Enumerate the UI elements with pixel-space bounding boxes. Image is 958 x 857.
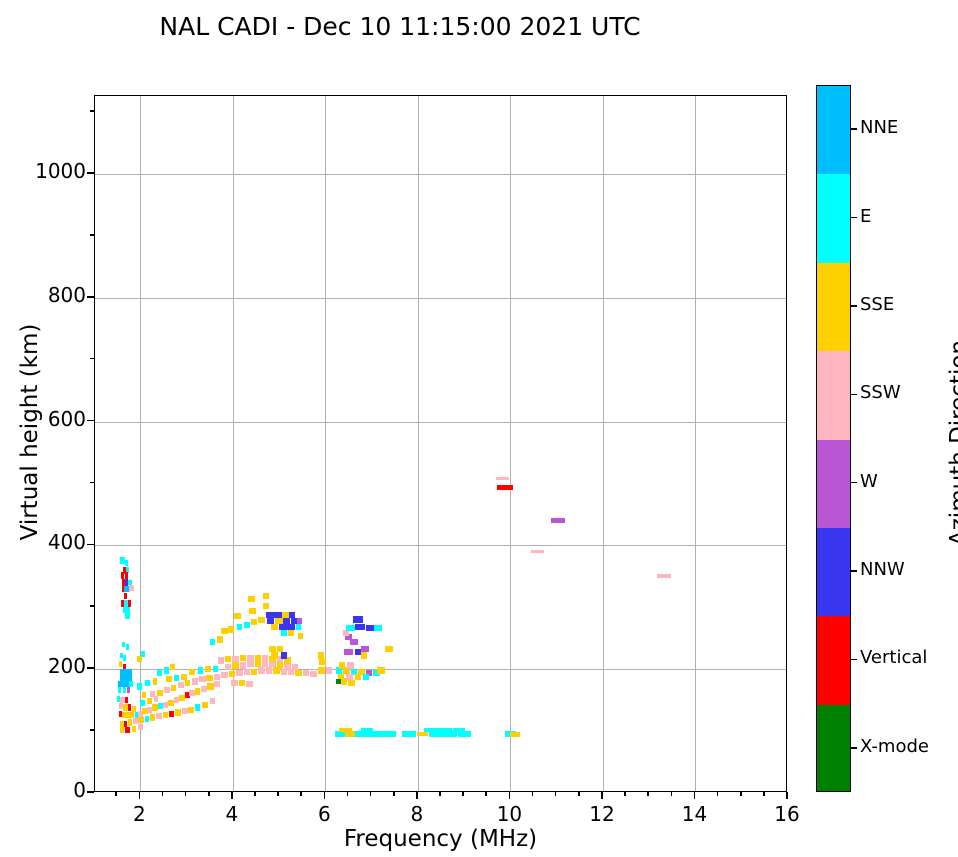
- data-point: [156, 713, 162, 719]
- data-point: [255, 661, 261, 667]
- data-point: [341, 678, 347, 684]
- x-tick-minor: [347, 792, 349, 796]
- data-point: [236, 670, 242, 676]
- y-tick-minor: [90, 729, 94, 731]
- colorbar-segment-nnw: [817, 528, 850, 616]
- colorbar-segment-w: [817, 440, 850, 528]
- data-point: [348, 680, 354, 686]
- colorbar-label-sse: SSE: [860, 294, 894, 315]
- data-point: [266, 667, 272, 673]
- data-point: [225, 664, 231, 670]
- data-point: [122, 642, 125, 648]
- data-point: [347, 662, 353, 668]
- colorbar-segment-vertical: [817, 616, 850, 704]
- data-point: [361, 728, 373, 732]
- data-point: [121, 572, 124, 579]
- y-tick-mark: [87, 791, 94, 793]
- data-point: [228, 626, 234, 632]
- data-point: [205, 666, 211, 672]
- data-point: [199, 676, 205, 682]
- x-tick-minor: [462, 792, 464, 796]
- data-point: [206, 675, 212, 681]
- data-point: [385, 646, 393, 652]
- colorbar-label-w: W: [860, 471, 878, 492]
- x-tick-label: 14: [664, 802, 724, 826]
- y-tick-minor: [90, 110, 94, 112]
- data-point: [361, 652, 367, 658]
- data-point: [124, 593, 127, 599]
- data-point: [181, 674, 187, 680]
- data-point: [310, 671, 316, 677]
- data-point: [153, 678, 158, 684]
- x-tick-mark: [786, 792, 788, 799]
- data-point: [123, 704, 128, 710]
- data-point: [258, 617, 264, 623]
- data-point: [125, 727, 130, 733]
- y-tick-label: 0: [73, 778, 86, 802]
- y-tick-mark: [87, 544, 94, 546]
- data-point: [178, 682, 184, 688]
- data-point: [129, 585, 134, 591]
- data-point: [125, 560, 128, 566]
- data-point: [141, 651, 146, 657]
- x-tick-minor: [624, 792, 626, 796]
- colorbar-label-nnw: NNW: [860, 559, 905, 580]
- gridline-vertical: [603, 96, 604, 791]
- data-point: [292, 664, 298, 670]
- x-tick-label: 16: [757, 802, 817, 826]
- data-point: [123, 655, 126, 661]
- data-point: [438, 728, 452, 732]
- data-point: [239, 680, 245, 686]
- data-point: [248, 596, 254, 602]
- x-tick-minor: [277, 792, 279, 796]
- y-axis-label: Virtual height (km): [17, 267, 43, 597]
- data-point: [163, 712, 169, 718]
- x-tick-minor: [485, 792, 487, 796]
- data-point: [295, 670, 301, 676]
- x-axis-label: Frequency (MHz): [94, 826, 787, 852]
- y-tick-mark: [87, 667, 94, 669]
- colorbar-segment-ssw: [817, 351, 850, 439]
- y-tick-label: 400: [48, 530, 86, 554]
- data-point: [353, 616, 363, 623]
- data-point: [363, 674, 369, 680]
- data-point: [263, 593, 269, 599]
- data-point: [232, 662, 238, 668]
- data-point: [221, 672, 227, 678]
- data-point: [263, 603, 269, 609]
- data-point: [344, 649, 352, 655]
- data-point: [218, 657, 224, 663]
- colorbar-label-e: E: [860, 206, 871, 227]
- data-point: [303, 670, 309, 676]
- data-point: [531, 550, 544, 554]
- x-tick-minor: [717, 792, 719, 796]
- data-point: [137, 683, 142, 689]
- y-tick-label: 200: [48, 654, 86, 678]
- gridline-horizontal: [95, 174, 786, 175]
- data-point: [255, 655, 261, 661]
- data-point: [458, 731, 471, 737]
- data-point: [145, 716, 150, 722]
- data-point: [145, 680, 150, 686]
- y-tick-mark: [87, 296, 94, 298]
- x-tick-minor: [740, 792, 742, 796]
- data-point: [195, 688, 201, 694]
- gridline-vertical: [325, 96, 326, 791]
- data-point: [214, 674, 220, 680]
- data-point: [345, 731, 355, 737]
- page-title: NAL CADI - Dec 10 11:15:00 2021 UTC: [0, 12, 800, 41]
- data-point: [125, 572, 128, 579]
- data-point: [198, 667, 203, 673]
- data-point: [277, 662, 283, 668]
- data-point: [140, 700, 145, 706]
- data-point: [157, 670, 162, 676]
- x-tick-minor: [208, 792, 210, 796]
- data-point: [210, 639, 216, 645]
- data-point: [164, 687, 170, 693]
- data-point: [355, 674, 361, 680]
- data-point: [152, 704, 158, 710]
- data-point: [326, 667, 332, 673]
- data-point: [271, 652, 277, 658]
- colorbar-title: Azimuth Direction: [946, 278, 958, 608]
- colorbar-tick: [851, 570, 857, 572]
- data-point: [150, 691, 156, 697]
- colorbar: [816, 85, 851, 792]
- data-point: [318, 652, 324, 658]
- colorbar-tick: [851, 482, 857, 484]
- data-point: [214, 681, 220, 687]
- gridline-horizontal: [95, 422, 786, 423]
- y-tick-label: 1000: [35, 159, 86, 183]
- data-point: [232, 656, 238, 662]
- x-tick-label: 8: [387, 802, 447, 826]
- data-point: [251, 669, 257, 675]
- data-point: [429, 731, 443, 737]
- gridline-vertical: [233, 96, 234, 791]
- y-tick-label: 800: [48, 283, 86, 307]
- x-tick-mark: [601, 792, 603, 799]
- data-point: [497, 485, 513, 490]
- gridline-vertical: [510, 96, 511, 791]
- data-point: [402, 731, 416, 737]
- data-point: [171, 685, 177, 691]
- data-point: [237, 624, 243, 630]
- data-point: [174, 675, 179, 681]
- data-point: [217, 636, 223, 642]
- data-point: [170, 664, 175, 670]
- gridline-horizontal: [95, 545, 786, 546]
- gridline-horizontal: [95, 298, 786, 299]
- data-point: [339, 662, 345, 668]
- colorbar-tick: [851, 394, 857, 396]
- data-point: [240, 662, 246, 668]
- data-point: [225, 656, 231, 662]
- x-tick-minor: [300, 792, 302, 796]
- data-point: [169, 711, 174, 717]
- data-point: [281, 652, 287, 658]
- data-point: [240, 655, 246, 661]
- x-tick-minor: [647, 792, 649, 796]
- y-tick-minor: [90, 358, 94, 360]
- data-point: [127, 687, 130, 693]
- colorbar-label-vertical: Vertical: [860, 647, 927, 668]
- data-point: [366, 731, 376, 737]
- data-point: [128, 600, 131, 606]
- data-point: [142, 692, 147, 698]
- data-point: [377, 667, 384, 673]
- data-point: [132, 726, 137, 732]
- colorbar-tick: [851, 305, 857, 307]
- data-point: [335, 731, 345, 737]
- data-point: [179, 695, 185, 701]
- y-tick-minor: [90, 482, 94, 484]
- y-tick-label: 600: [48, 407, 86, 431]
- data-point: [453, 728, 465, 732]
- data-point: [355, 624, 365, 631]
- data-point: [125, 697, 128, 703]
- data-point: [125, 613, 130, 619]
- data-point: [298, 633, 304, 639]
- x-tick-mark: [416, 792, 418, 799]
- x-tick-minor: [185, 792, 187, 796]
- plot-area: [94, 95, 787, 792]
- y-tick-minor: [90, 234, 94, 236]
- x-tick-mark: [324, 792, 326, 799]
- x-tick-minor: [763, 792, 765, 796]
- data-point: [207, 683, 213, 689]
- data-point: [496, 477, 509, 481]
- colorbar-label-nne: NNE: [860, 117, 898, 138]
- x-tick-minor: [115, 792, 117, 796]
- data-point: [355, 731, 365, 737]
- data-point: [202, 702, 208, 708]
- data-point: [510, 732, 520, 737]
- colorbar-segment-sse: [817, 263, 850, 351]
- data-point: [221, 628, 227, 634]
- colorbar-tick: [851, 747, 857, 749]
- data-point: [262, 655, 268, 661]
- x-tick-minor: [555, 792, 557, 796]
- x-tick-label: 10: [479, 802, 539, 826]
- data-point: [157, 690, 163, 696]
- data-point: [247, 655, 253, 661]
- data-point: [244, 669, 250, 675]
- data-point: [271, 624, 278, 630]
- x-tick-label: 2: [109, 802, 169, 826]
- x-tick-minor: [439, 792, 441, 796]
- data-point: [346, 625, 354, 631]
- gridline-vertical: [418, 96, 419, 791]
- data-point: [374, 625, 381, 631]
- y-tick-mark: [87, 420, 94, 422]
- y-tick-mark: [87, 172, 94, 174]
- colorbar-label-ssw: SSW: [860, 382, 901, 403]
- data-point: [249, 608, 255, 614]
- data-point: [244, 622, 250, 628]
- colorbar-tick: [851, 128, 857, 130]
- data-point: [120, 727, 125, 733]
- x-tick-minor: [393, 792, 395, 796]
- data-point: [150, 714, 156, 720]
- data-point: [288, 630, 294, 636]
- data-point: [138, 724, 143, 730]
- data-point: [386, 731, 396, 737]
- data-point: [424, 728, 438, 732]
- data-point: [189, 669, 195, 675]
- x-tick-mark: [694, 792, 696, 799]
- data-point: [210, 698, 216, 704]
- data-point: [182, 708, 188, 714]
- colorbar-segment-nne: [817, 86, 850, 174]
- data-point: [126, 607, 131, 613]
- x-tick-minor: [578, 792, 580, 796]
- x-tick-mark: [509, 792, 511, 799]
- data-point: [126, 644, 129, 650]
- colorbar-tick: [851, 659, 857, 661]
- data-point: [138, 717, 144, 723]
- colorbar-segment-e: [817, 174, 850, 262]
- data-point: [231, 680, 237, 686]
- data-point: [318, 667, 324, 673]
- x-tick-minor: [671, 792, 673, 796]
- data-point: [246, 681, 252, 687]
- data-point: [195, 704, 201, 710]
- data-point: [229, 671, 235, 677]
- data-point: [251, 619, 257, 625]
- y-tick-minor: [90, 605, 94, 607]
- data-point: [319, 659, 325, 665]
- x-tick-label: 4: [202, 802, 262, 826]
- x-tick-label: 12: [572, 802, 632, 826]
- data-point: [339, 728, 352, 732]
- data-point: [234, 613, 240, 619]
- x-tick-label: 6: [294, 802, 354, 826]
- data-point: [124, 586, 130, 592]
- data-point: [376, 731, 386, 737]
- data-point: [188, 707, 194, 713]
- data-point: [175, 709, 181, 715]
- data-point: [164, 667, 169, 673]
- x-tick-minor: [254, 792, 256, 796]
- data-point: [551, 518, 565, 523]
- colorbar-tick: [851, 217, 857, 219]
- x-tick-minor: [162, 792, 164, 796]
- data-point: [147, 698, 152, 704]
- data-point: [281, 669, 287, 675]
- x-tick-minor: [370, 792, 372, 796]
- x-tick-mark: [139, 792, 141, 799]
- data-point: [118, 687, 122, 693]
- ionogram-figure: NAL CADI - Dec 10 11:15:00 2021 UTC 0200…: [0, 0, 958, 857]
- data-point: [166, 676, 172, 682]
- data-point: [192, 678, 198, 684]
- colorbar-label-x-mode: X-mode: [860, 736, 929, 757]
- data-point: [443, 731, 457, 737]
- data-point: [122, 712, 128, 718]
- data-point: [185, 680, 191, 686]
- data-point: [296, 624, 302, 630]
- gridline-vertical: [695, 96, 696, 791]
- data-point: [366, 625, 374, 631]
- data-point: [281, 630, 287, 636]
- data-point: [417, 732, 428, 736]
- data-point: [657, 574, 671, 578]
- data-point: [247, 661, 253, 667]
- data-point: [262, 661, 268, 667]
- colorbar-segment-x-mode: [817, 705, 850, 792]
- x-tick-minor: [532, 792, 534, 796]
- x-tick-mark: [231, 792, 233, 799]
- data-point: [258, 667, 264, 673]
- data-point: [119, 661, 122, 667]
- data-point: [213, 666, 218, 672]
